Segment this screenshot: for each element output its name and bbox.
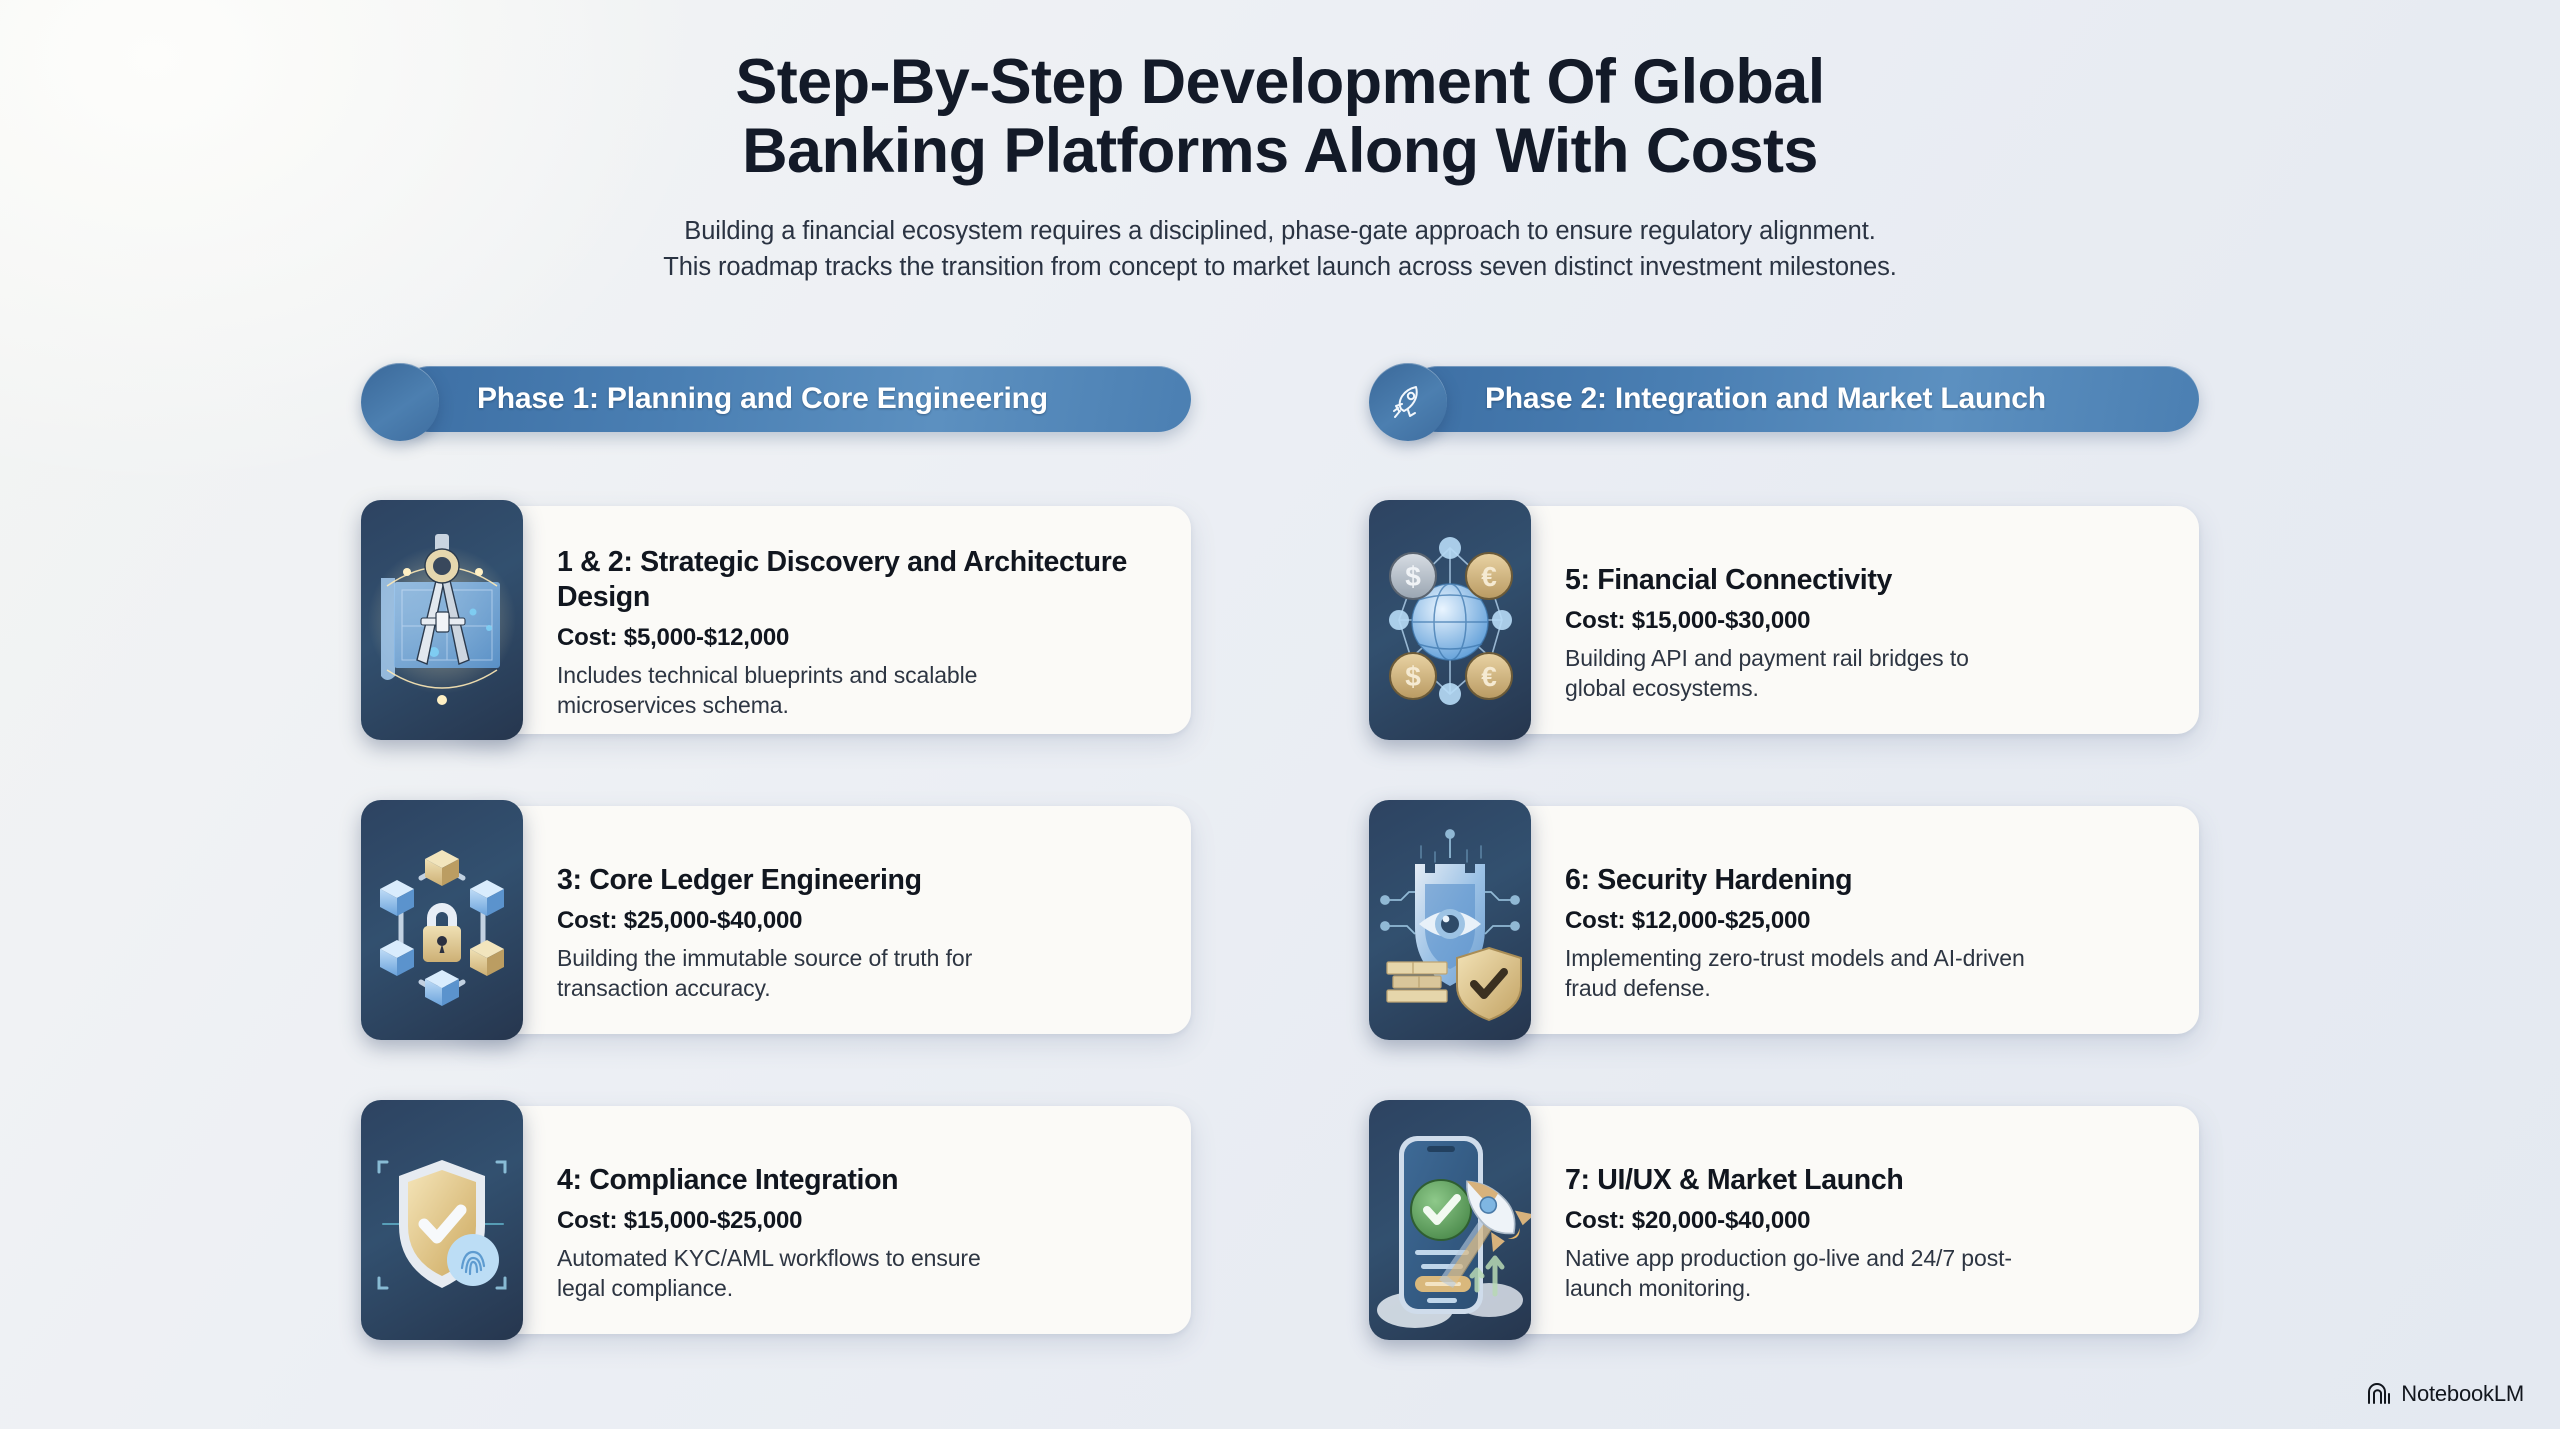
blockchain-lock-icon (361, 800, 523, 1040)
page-title: Step-By-Step Development Of Global Banki… (0, 48, 2560, 187)
roadmap-board: Phase 1: Planning and Core Engineering (0, 366, 2560, 1400)
page-subtitle-line-2: This roadmap tracks the transition from … (0, 249, 2560, 285)
card-description: Implementing zero-trust models and AI-dr… (1565, 944, 2035, 1004)
shield-fingerprint-icon (361, 1100, 523, 1340)
phase-1-banner: Phase 1: Planning and Core Engineering (361, 366, 1191, 438)
card-thumbnail (361, 800, 523, 1040)
shield-eye-firewall-icon (1369, 800, 1531, 1040)
card-cost: Cost: $12,000-$25,000 (1565, 907, 2035, 935)
milestone-card[interactable]: 7: UI/UX & Market Launch Cost: $20,000-$… (1369, 1100, 2199, 1340)
milestone-card[interactable]: 3: Core Ledger Engineering Cost: $25,000… (361, 800, 1191, 1040)
card-text: 3: Core Ledger Engineering Cost: $25,000… (545, 800, 1061, 1040)
card-thumbnail: $ € $ € (1369, 500, 1531, 740)
card-text: 1 & 2: Strategic Discovery and Architect… (545, 500, 1191, 740)
phase-2-column: Phase 2: Integration and Market Launch (1369, 366, 2199, 1400)
card-text: 7: UI/UX & Market Launch Cost: $20,000-$… (1553, 1100, 2069, 1340)
card-title: 7: UI/UX & Market Launch (1565, 1163, 2035, 1198)
page-subtitle: Building a financial ecosystem requires … (0, 213, 2560, 285)
blank-badge-icon (361, 363, 439, 441)
notebooklm-spiral-icon (2366, 1382, 2392, 1406)
blueprint-compass-icon (361, 500, 523, 740)
page-header: Step-By-Step Development Of Global Banki… (0, 0, 2560, 285)
card-title: 4: Compliance Integration (557, 1163, 1027, 1198)
card-title: 5: Financial Connectivity (1565, 563, 2035, 598)
card-cost: Cost: $15,000-$25,000 (557, 1207, 1027, 1235)
card-description: Building the immutable source of truth f… (557, 944, 1027, 1004)
svg-text:€: € (1481, 661, 1497, 692)
card-description: Automated KYC/AML workflows to ensure le… (557, 1244, 1027, 1304)
page-subtitle-line-1: Building a financial ecosystem requires … (0, 213, 2560, 249)
phase-1-pill: Phase 1: Planning and Core Engineering (397, 366, 1191, 432)
card-text: 5: Financial Connectivity Cost: $15,000-… (1553, 500, 2069, 740)
svg-text:$: $ (1405, 561, 1421, 592)
milestone-card[interactable]: 4: Compliance Integration Cost: $15,000-… (361, 1100, 1191, 1340)
phase-1-label: Phase 1: Planning and Core Engineering (477, 382, 1048, 416)
notebooklm-watermark: NotebookLM (2366, 1381, 2524, 1407)
svg-text:$: $ (1405, 661, 1421, 692)
page-title-line-1: Step-By-Step Development Of Global (0, 48, 2560, 117)
card-thumbnail (1369, 1100, 1531, 1340)
card-description: Native app production go-live and 24/7 p… (1565, 1244, 2035, 1304)
page-title-line-2: Banking Platforms Along With Costs (0, 117, 2560, 186)
notebooklm-label: NotebookLM (2401, 1381, 2524, 1407)
globe-currency-network-icon: $ € $ € (1369, 500, 1531, 740)
card-cost: Cost: $25,000-$40,000 (557, 907, 1027, 935)
card-thumbnail (1369, 800, 1531, 1040)
card-description: Includes technical blueprints and scalab… (557, 661, 1027, 721)
phase-2-pill: Phase 2: Integration and Market Launch (1405, 366, 2199, 432)
card-text: 6: Security Hardening Cost: $12,000-$25,… (1553, 800, 2069, 1040)
card-thumbnail (361, 1100, 523, 1340)
svg-text:€: € (1481, 561, 1497, 592)
milestone-card[interactable]: 1 & 2: Strategic Discovery and Architect… (361, 500, 1191, 740)
phase-1-column: Phase 1: Planning and Core Engineering (361, 366, 1191, 1400)
milestone-card[interactable]: 6: Security Hardening Cost: $12,000-$25,… (1369, 800, 2199, 1040)
card-text: 4: Compliance Integration Cost: $15,000-… (545, 1100, 1061, 1340)
card-title: 6: Security Hardening (1565, 863, 2035, 898)
card-thumbnail (361, 500, 523, 740)
rocket-icon (1369, 363, 1447, 441)
phase-2-banner: Phase 2: Integration and Market Launch (1369, 366, 2199, 438)
card-cost: Cost: $15,000-$30,000 (1565, 607, 2035, 635)
mobile-rocket-launch-icon (1369, 1100, 1531, 1340)
milestone-card[interactable]: $ € $ € 5: Financial Connectivity Cost: … (1369, 500, 2199, 740)
phase-2-label: Phase 2: Integration and Market Launch (1485, 382, 2046, 416)
card-title: 1 & 2: Strategic Discovery and Architect… (557, 545, 1157, 615)
card-cost: Cost: $5,000-$12,000 (557, 624, 1157, 652)
card-cost: Cost: $20,000-$40,000 (1565, 1207, 2035, 1235)
card-title: 3: Core Ledger Engineering (557, 863, 1027, 898)
card-description: Building API and payment rail bridges to… (1565, 644, 2035, 704)
